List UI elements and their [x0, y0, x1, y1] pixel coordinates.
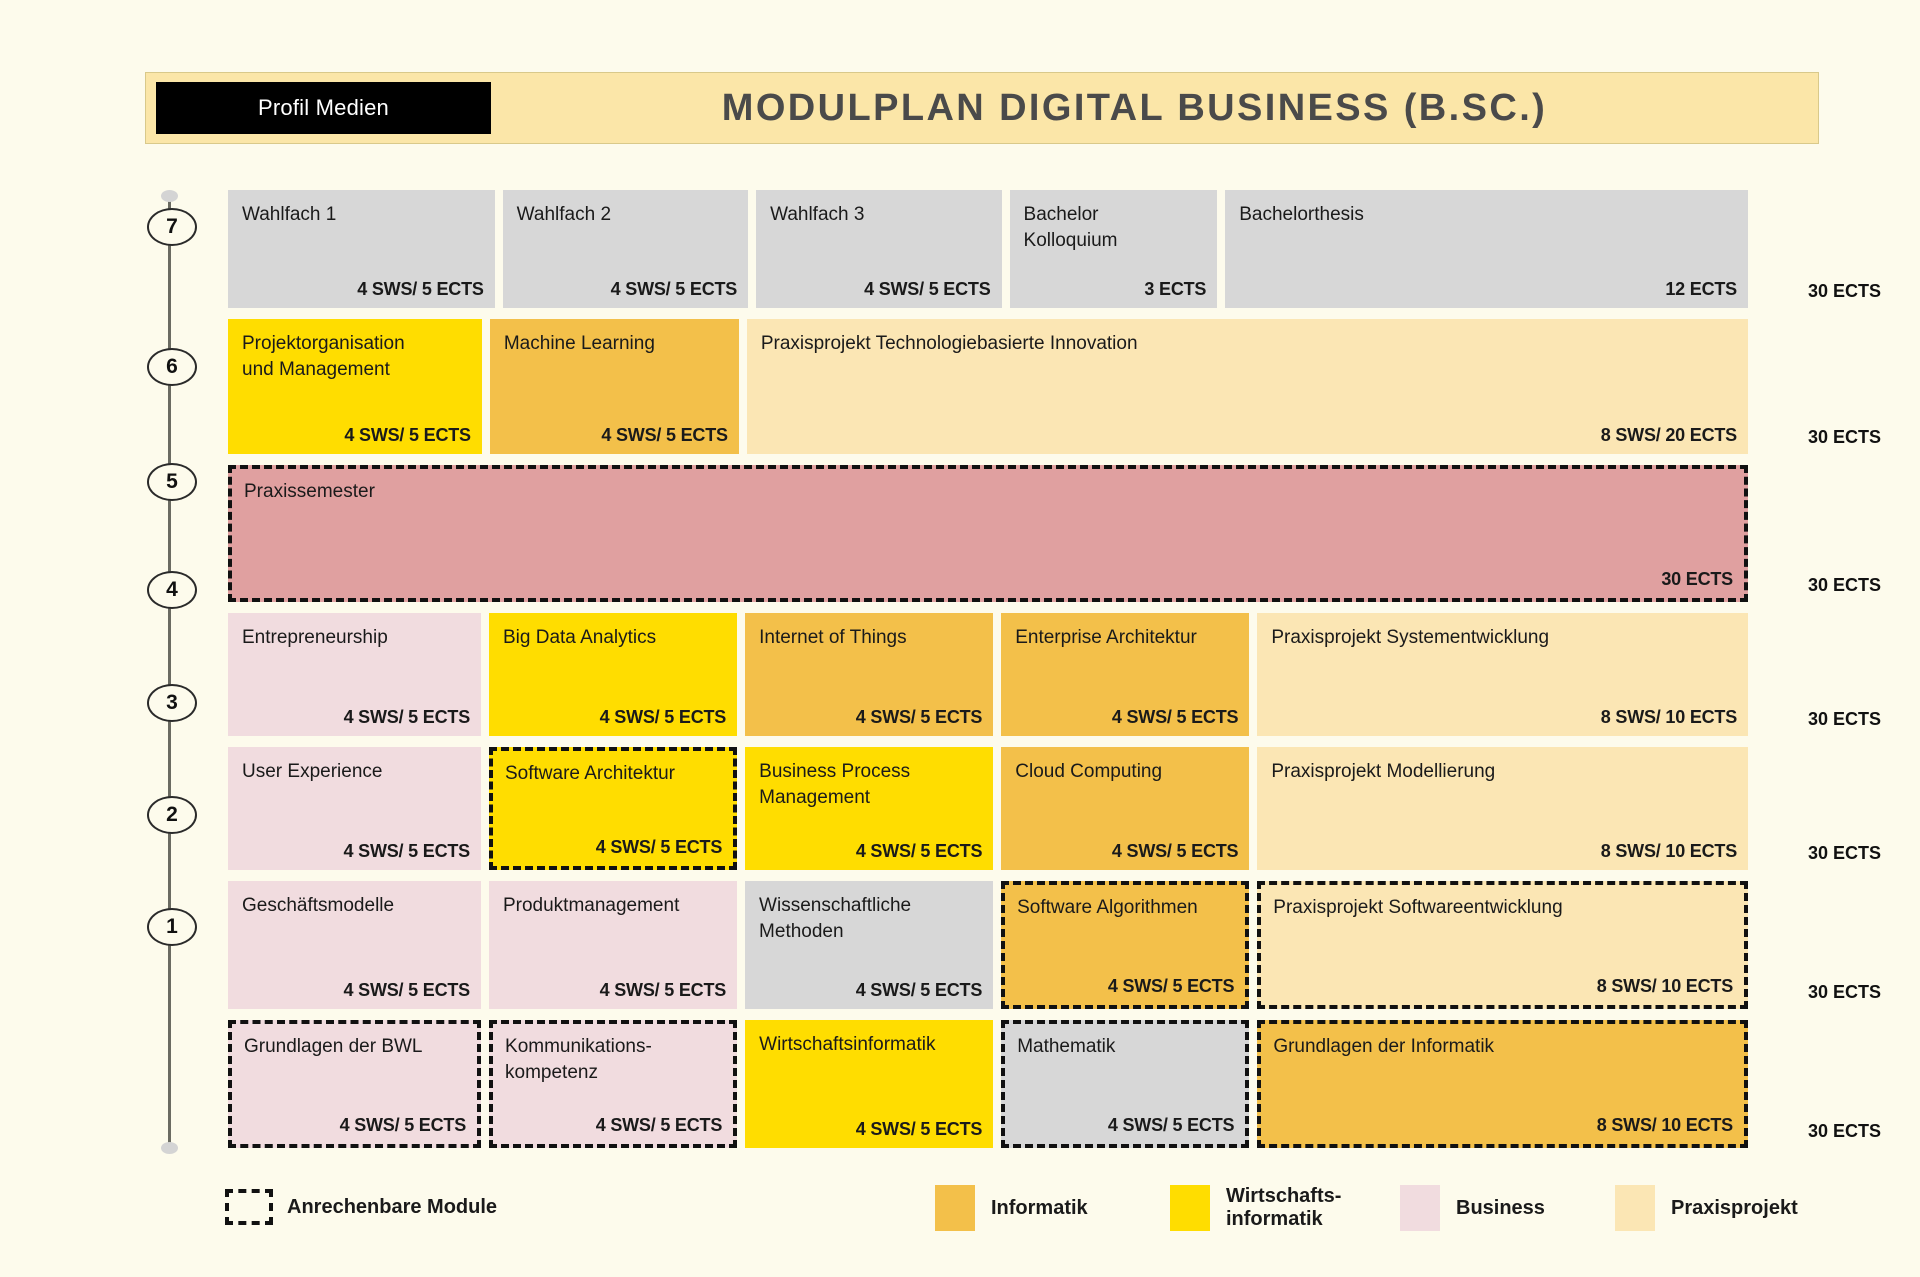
- semester-node-5[interactable]: 5: [147, 463, 197, 501]
- semester-total-ects: 30 ECTS: [1808, 575, 1881, 596]
- page-title: MODULPLAN DIGITAL BUSINESS (B.SC.): [491, 87, 1818, 130]
- module-card[interactable]: Praxisprojekt Systementwicklung8 SWS/ 10…: [1257, 613, 1748, 736]
- module-card[interactable]: Kommunikations- kompetenz4 SWS/ 5 ECTS: [489, 1020, 737, 1148]
- module-card[interactable]: Wissenschaftliche Methoden4 SWS/ 5 ECTS: [745, 881, 993, 1009]
- semester-node-label: 7: [166, 215, 178, 239]
- module-ects: 4 SWS/ 5 ECTS: [856, 1117, 982, 1141]
- module-title: Projektorganisation und Management: [242, 331, 468, 382]
- semester-node-1[interactable]: 1: [147, 908, 197, 946]
- legend-item: Praxisprojekt: [1615, 1185, 1798, 1231]
- module-card[interactable]: Wahlfach 24 SWS/ 5 ECTS: [503, 190, 748, 308]
- legend-item: Informatik: [935, 1185, 1088, 1231]
- page-header: Profil Medien MODULPLAN DIGITAL BUSINESS…: [145, 72, 1819, 144]
- module-ects: 4 SWS/ 5 ECTS: [864, 277, 990, 301]
- legend-color-swatch: [935, 1185, 975, 1231]
- anrechenbare-module-swatch: [225, 1189, 273, 1225]
- module-ects: 30 ECTS: [1661, 567, 1733, 591]
- module-card[interactable]: Praxissemester30 ECTS: [228, 465, 1748, 602]
- module-card[interactable]: Wahlfach 14 SWS/ 5 ECTS: [228, 190, 495, 308]
- module-grid: Wahlfach 14 SWS/ 5 ECTSWahlfach 24 SWS/ …: [228, 190, 1748, 1159]
- semester-node-label: 5: [166, 470, 178, 494]
- semester-timeline: 7654321: [150, 186, 210, 1156]
- module-ects: 4 SWS/ 5 ECTS: [340, 1113, 466, 1137]
- module-title: Big Data Analytics: [503, 625, 723, 651]
- module-title: Machine Learning: [504, 331, 725, 357]
- module-title: Kommunikations- kompetenz: [505, 1034, 721, 1085]
- semester-node-label: 4: [166, 578, 178, 602]
- legend-label: Business: [1456, 1197, 1545, 1220]
- module-ects: 4 SWS/ 5 ECTS: [344, 423, 470, 447]
- semester-row-6: Projektorganisation und Management4 SWS/…: [228, 319, 1748, 454]
- module-title: Wahlfach 1: [242, 202, 481, 228]
- module-title: Enterprise Architektur: [1015, 625, 1235, 651]
- semester-node-label: 1: [166, 915, 178, 939]
- module-card[interactable]: Bachelor Kolloquium3 ECTS: [1010, 190, 1218, 308]
- semester-node-label: 6: [166, 355, 178, 379]
- module-ects: 4 SWS/ 5 ECTS: [611, 277, 737, 301]
- module-card[interactable]: Geschäftsmodelle4 SWS/ 5 ECTS: [228, 881, 481, 1009]
- module-title: Mathematik: [1017, 1034, 1233, 1060]
- module-card[interactable]: Praxisprojekt Modellierung8 SWS/ 10 ECTS: [1257, 747, 1748, 870]
- semester-total-ects: 30 ECTS: [1808, 281, 1881, 302]
- module-title: Bachelorthesis: [1239, 202, 1734, 228]
- legend-label: Praxisprojekt: [1671, 1197, 1798, 1220]
- module-card[interactable]: Praxisprojekt Technologiebasierte Innova…: [747, 319, 1748, 454]
- legend-label: Wirtschafts- informatik: [1226, 1185, 1341, 1231]
- profile-badge: Profil Medien: [156, 82, 491, 134]
- module-title: Wahlfach 3: [770, 202, 987, 228]
- semester-row-5: Praxissemester30 ECTS30 ECTS: [228, 465, 1748, 602]
- module-card[interactable]: Bachelorthesis12 ECTS: [1225, 190, 1748, 308]
- module-ects: 8 SWS/ 10 ECTS: [1597, 1113, 1733, 1137]
- profile-badge-label: Profil Medien: [258, 95, 389, 121]
- module-card[interactable]: Praxisprojekt Softwareentwicklung8 SWS/ …: [1257, 881, 1748, 1009]
- legend-item: Business: [1400, 1185, 1545, 1231]
- semester-node-7[interactable]: 7: [147, 208, 197, 246]
- module-card[interactable]: Produktmanagement4 SWS/ 5 ECTS: [489, 881, 737, 1009]
- module-ects: 8 SWS/ 10 ECTS: [1597, 974, 1733, 998]
- semester-node-4[interactable]: 4: [147, 571, 197, 609]
- legend-label: Informatik: [991, 1197, 1088, 1220]
- module-title: Grundlagen der Informatik: [1273, 1034, 1732, 1060]
- legend: Anrechenbare Module InformatikWirtschaft…: [225, 1185, 1785, 1245]
- semester-row-3: User Experience4 SWS/ 5 ECTSSoftware Arc…: [228, 747, 1748, 870]
- module-card[interactable]: Mathematik4 SWS/ 5 ECTS: [1001, 1020, 1249, 1148]
- module-title: Software Algorithmen: [1017, 895, 1233, 921]
- module-ects: 4 SWS/ 5 ECTS: [856, 839, 982, 863]
- semester-node-label: 2: [166, 803, 178, 827]
- module-title: Bachelor Kolloquium: [1024, 202, 1204, 253]
- legend-item: Wirtschafts- informatik: [1170, 1185, 1341, 1231]
- legend-color-swatch: [1170, 1185, 1210, 1231]
- module-title: Geschäftsmodelle: [242, 893, 467, 919]
- module-ects: 4 SWS/ 5 ECTS: [600, 978, 726, 1002]
- timeline-dot-bottom: [161, 1142, 178, 1154]
- module-ects: 3 ECTS: [1144, 277, 1206, 301]
- modulplan-page: Profil Medien MODULPLAN DIGITAL BUSINESS…: [0, 0, 1920, 1277]
- module-title: Praxisprojekt Technologiebasierte Innova…: [761, 331, 1734, 357]
- module-ects: 4 SWS/ 5 ECTS: [1112, 839, 1238, 863]
- module-title: Grundlagen der BWL: [244, 1034, 465, 1060]
- semester-row-1: Grundlagen der BWL4 SWS/ 5 ECTSKommunika…: [228, 1020, 1748, 1148]
- semester-total-ects: 30 ECTS: [1808, 709, 1881, 730]
- module-title: Software Architektur: [505, 761, 721, 787]
- module-ects: 4 SWS/ 5 ECTS: [601, 423, 727, 447]
- module-ects: 4 SWS/ 5 ECTS: [1112, 705, 1238, 729]
- module-title: Wissenschaftliche Methoden: [759, 893, 979, 944]
- semester-row-4: Entrepreneurship4 SWS/ 5 ECTSBig Data An…: [228, 613, 1748, 736]
- semester-row-2: Geschäftsmodelle4 SWS/ 5 ECTSProduktmana…: [228, 881, 1748, 1009]
- module-card[interactable]: Internet of Things4 SWS/ 5 ECTS: [745, 613, 993, 736]
- module-card[interactable]: Grundlagen der Informatik8 SWS/ 10 ECTS: [1257, 1020, 1748, 1148]
- semester-node-3[interactable]: 3: [147, 684, 197, 722]
- module-title: Praxisprojekt Modellierung: [1271, 759, 1734, 785]
- module-ects: 4 SWS/ 5 ECTS: [596, 1113, 722, 1137]
- module-ects: 4 SWS/ 5 ECTS: [344, 705, 470, 729]
- module-ects: 4 SWS/ 5 ECTS: [600, 705, 726, 729]
- semester-total-ects: 30 ECTS: [1808, 843, 1881, 864]
- module-ects: 4 SWS/ 5 ECTS: [596, 835, 722, 859]
- module-card[interactable]: User Experience4 SWS/ 5 ECTS: [228, 747, 481, 870]
- timeline-dot-top: [161, 190, 178, 202]
- module-ects: 4 SWS/ 5 ECTS: [856, 978, 982, 1002]
- module-title: Wahlfach 2: [517, 202, 734, 228]
- module-card[interactable]: Wahlfach 34 SWS/ 5 ECTS: [756, 190, 1001, 308]
- semester-total-ects: 30 ECTS: [1808, 982, 1881, 1003]
- module-ects: 4 SWS/ 5 ECTS: [1108, 974, 1234, 998]
- module-title: Praxisprojekt Softwareentwicklung: [1273, 895, 1732, 921]
- anrechenbare-module-label: Anrechenbare Module: [287, 1196, 497, 1219]
- semester-node-label: 3: [166, 691, 178, 715]
- timeline-line: [168, 198, 171, 1148]
- legend-color-swatch: [1615, 1185, 1655, 1231]
- module-ects: 4 SWS/ 5 ECTS: [344, 839, 470, 863]
- module-ects: 4 SWS/ 5 ECTS: [1108, 1113, 1234, 1137]
- module-title: Wirtschaftsinformatik: [759, 1032, 979, 1058]
- module-title: Praxissemester: [244, 479, 1732, 505]
- module-card[interactable]: Cloud Computing4 SWS/ 5 ECTS: [1001, 747, 1249, 870]
- module-ects: 4 SWS/ 5 ECTS: [856, 705, 982, 729]
- module-card[interactable]: Wirtschaftsinformatik4 SWS/ 5 ECTS: [745, 1020, 993, 1148]
- legend-color-swatch: [1400, 1185, 1440, 1231]
- module-ects: 4 SWS/ 5 ECTS: [357, 277, 483, 301]
- module-ects: 12 ECTS: [1665, 277, 1737, 301]
- module-card[interactable]: Enterprise Architektur4 SWS/ 5 ECTS: [1001, 613, 1249, 736]
- module-card[interactable]: Machine Learning4 SWS/ 5 ECTS: [490, 319, 739, 454]
- semester-row-7: Wahlfach 14 SWS/ 5 ECTSWahlfach 24 SWS/ …: [228, 190, 1748, 308]
- semester-node-2[interactable]: 2: [147, 796, 197, 834]
- module-title: Business Process Management: [759, 759, 979, 810]
- module-title: User Experience: [242, 759, 467, 785]
- module-title: Cloud Computing: [1015, 759, 1235, 785]
- module-card[interactable]: Software Algorithmen4 SWS/ 5 ECTS: [1001, 881, 1249, 1009]
- module-card[interactable]: Grundlagen der BWL4 SWS/ 5 ECTS: [228, 1020, 481, 1148]
- module-card[interactable]: Projektorganisation und Management4 SWS/…: [228, 319, 482, 454]
- module-title: Produktmanagement: [503, 893, 723, 919]
- module-card[interactable]: Entrepreneurship4 SWS/ 5 ECTS: [228, 613, 481, 736]
- module-ects: 8 SWS/ 10 ECTS: [1601, 839, 1737, 863]
- module-card[interactable]: Big Data Analytics4 SWS/ 5 ECTS: [489, 613, 737, 736]
- module-ects: 8 SWS/ 20 ECTS: [1601, 423, 1737, 447]
- semester-total-ects: 30 ECTS: [1808, 1121, 1881, 1142]
- module-card[interactable]: Software Architektur4 SWS/ 5 ECTS: [489, 747, 737, 870]
- module-card[interactable]: Business Process Management4 SWS/ 5 ECTS: [745, 747, 993, 870]
- module-ects: 4 SWS/ 5 ECTS: [344, 978, 470, 1002]
- module-title: Praxisprojekt Systementwicklung: [1271, 625, 1734, 651]
- module-title: Internet of Things: [759, 625, 979, 651]
- module-ects: 8 SWS/ 10 ECTS: [1601, 705, 1737, 729]
- semester-node-6[interactable]: 6: [147, 348, 197, 386]
- semester-total-ects: 30 ECTS: [1808, 427, 1881, 448]
- module-title: Entrepreneurship: [242, 625, 467, 651]
